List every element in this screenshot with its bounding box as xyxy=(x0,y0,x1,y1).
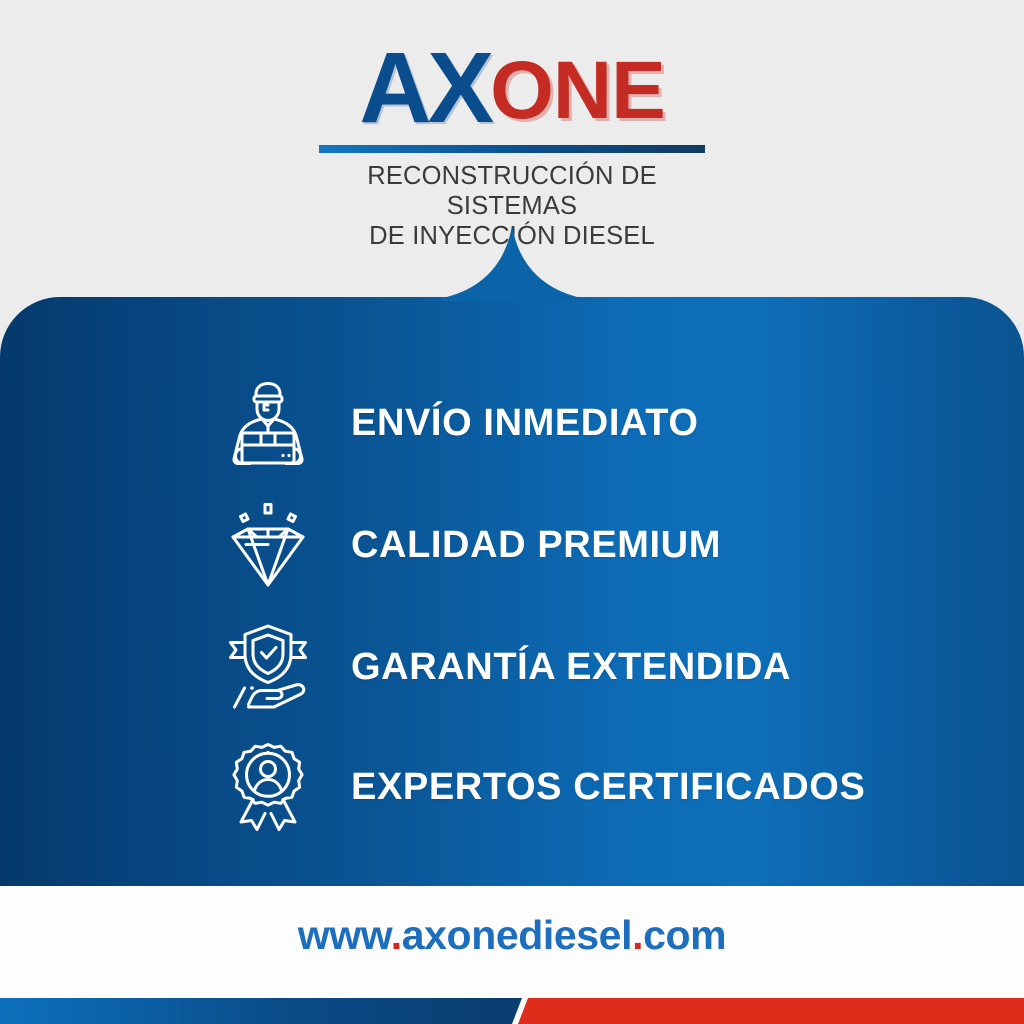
url-part-tld: com xyxy=(643,912,726,958)
features-panel: ENVÍO INMEDIATO xyxy=(0,297,1024,886)
brand-logo: AXONE RECONSTRUCCIÓN DE SISTEMAS DE INYE… xyxy=(302,40,722,251)
feature-item-expertos-certificados[interactable]: EXPERTOS CERTIFICADOS xyxy=(216,733,865,841)
delivery-person-box-icon xyxy=(216,371,320,475)
poster-canvas: AXONE RECONSTRUCCIÓN DE SISTEMAS DE INYE… xyxy=(0,0,1024,1024)
feature-item-envio-inmediato[interactable]: ENVÍO INMEDIATO xyxy=(216,369,699,477)
feature-item-garantia-extendida[interactable]: GARANTÍA EXTENDIDA xyxy=(216,613,791,721)
feature-label: ENVÍO INMEDIATO xyxy=(351,402,699,445)
brand-underline-rule xyxy=(319,145,705,153)
footer: www.axonediesel.com xyxy=(0,886,1024,1024)
features-list: ENVÍO INMEDIATO xyxy=(0,297,1024,886)
website-url[interactable]: www.axonediesel.com xyxy=(0,912,1024,959)
url-dot-2: . xyxy=(632,912,643,958)
feature-label: EXPERTOS CERTIFICADOS xyxy=(351,766,865,809)
feature-label: CALIDAD PREMIUM xyxy=(351,524,721,567)
feature-item-calidad-premium[interactable]: CALIDAD PREMIUM xyxy=(216,491,721,599)
url-part-domain: axonediesel xyxy=(402,912,632,958)
feature-label: GARANTÍA EXTENDIDA xyxy=(351,646,791,689)
diamond-icon xyxy=(216,493,320,597)
bottom-accent-bar xyxy=(0,998,1024,1024)
hand-holding-shield-check-icon xyxy=(216,615,320,719)
award-ribbon-person-icon xyxy=(216,735,320,839)
brand-tagline: RECONSTRUCCIÓN DE SISTEMAS DE INYECCIÓN … xyxy=(302,161,722,251)
url-part-www: www xyxy=(298,912,391,958)
header: AXONE RECONSTRUCCIÓN DE SISTEMAS DE INYE… xyxy=(0,0,1024,300)
url-dot-1: . xyxy=(391,912,402,958)
brand-wordmark: AXONE xyxy=(302,40,722,136)
brand-name-secondary: ONE xyxy=(490,45,665,136)
brand-name-primary: AX xyxy=(359,32,490,144)
